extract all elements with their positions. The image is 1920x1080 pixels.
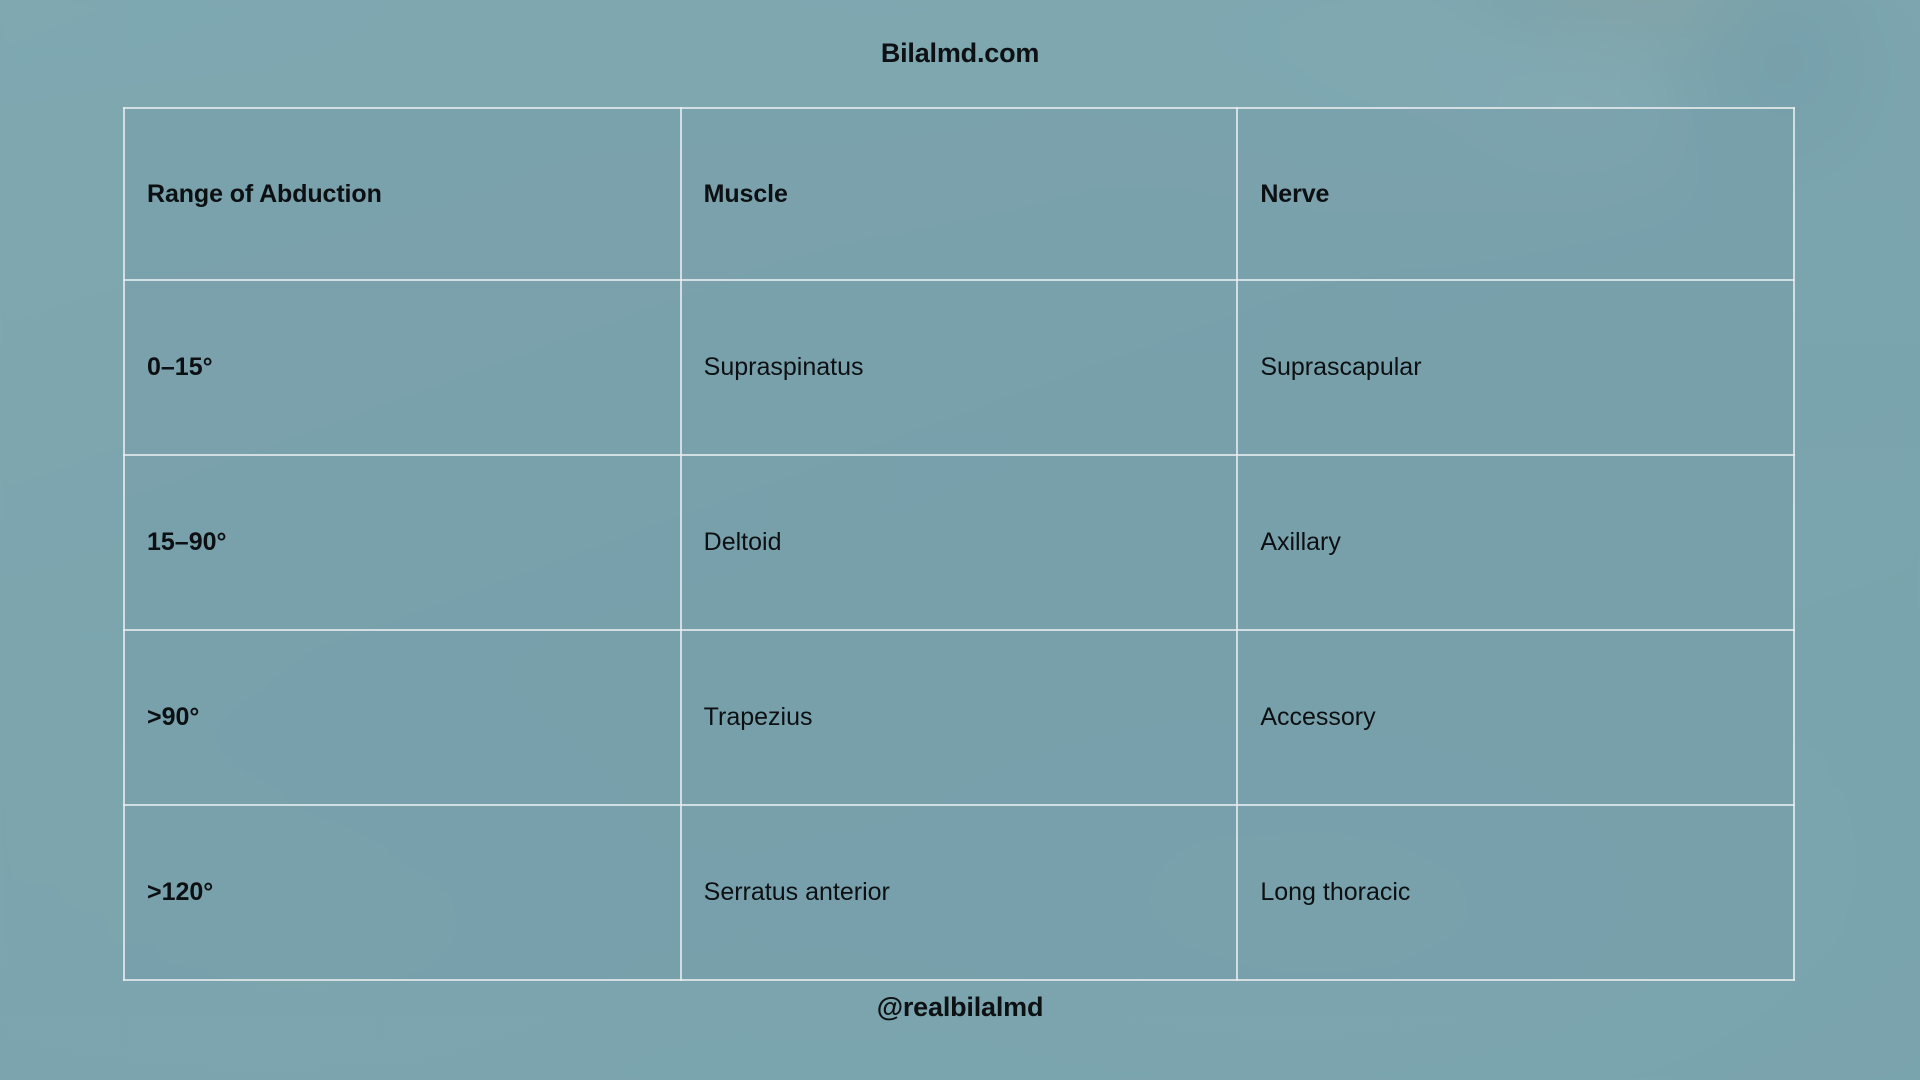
cell-range: 15–90° <box>124 455 681 630</box>
cell-muscle: Serratus anterior <box>681 805 1238 980</box>
table-body: 0–15° Supraspinatus Suprascapular 15–90°… <box>124 280 1794 980</box>
table-header-row: Range of Abduction Muscle Nerve <box>124 108 1794 280</box>
cell-range: 0–15° <box>124 280 681 455</box>
abduction-table: Range of Abduction Muscle Nerve 0–15° Su… <box>123 107 1795 981</box>
table-row: >90° Trapezius Accessory <box>124 630 1794 805</box>
table-container: Range of Abduction Muscle Nerve 0–15° Su… <box>123 107 1795 970</box>
social-handle: @realbilalmd <box>0 992 1920 1023</box>
slide-canvas: Bilalmd.com Range of Abduction Muscle Ne… <box>0 0 1920 1080</box>
cell-range: >90° <box>124 630 681 805</box>
table-row: 15–90° Deltoid Axillary <box>124 455 1794 630</box>
column-header-nerve: Nerve <box>1237 108 1794 280</box>
cell-nerve: Long thoracic <box>1237 805 1794 980</box>
cell-muscle: Trapezius <box>681 630 1238 805</box>
cell-muscle: Deltoid <box>681 455 1238 630</box>
site-title: Bilalmd.com <box>0 38 1920 69</box>
cell-range: >120° <box>124 805 681 980</box>
cell-muscle: Supraspinatus <box>681 280 1238 455</box>
cell-nerve: Suprascapular <box>1237 280 1794 455</box>
cell-nerve: Accessory <box>1237 630 1794 805</box>
table-row: 0–15° Supraspinatus Suprascapular <box>124 280 1794 455</box>
table-row: >120° Serratus anterior Long thoracic <box>124 805 1794 980</box>
cell-nerve: Axillary <box>1237 455 1794 630</box>
slide-content: Bilalmd.com Range of Abduction Muscle Ne… <box>0 0 1920 1080</box>
column-header-range: Range of Abduction <box>124 108 681 280</box>
table-header: Range of Abduction Muscle Nerve <box>124 108 1794 280</box>
column-header-muscle: Muscle <box>681 108 1238 280</box>
